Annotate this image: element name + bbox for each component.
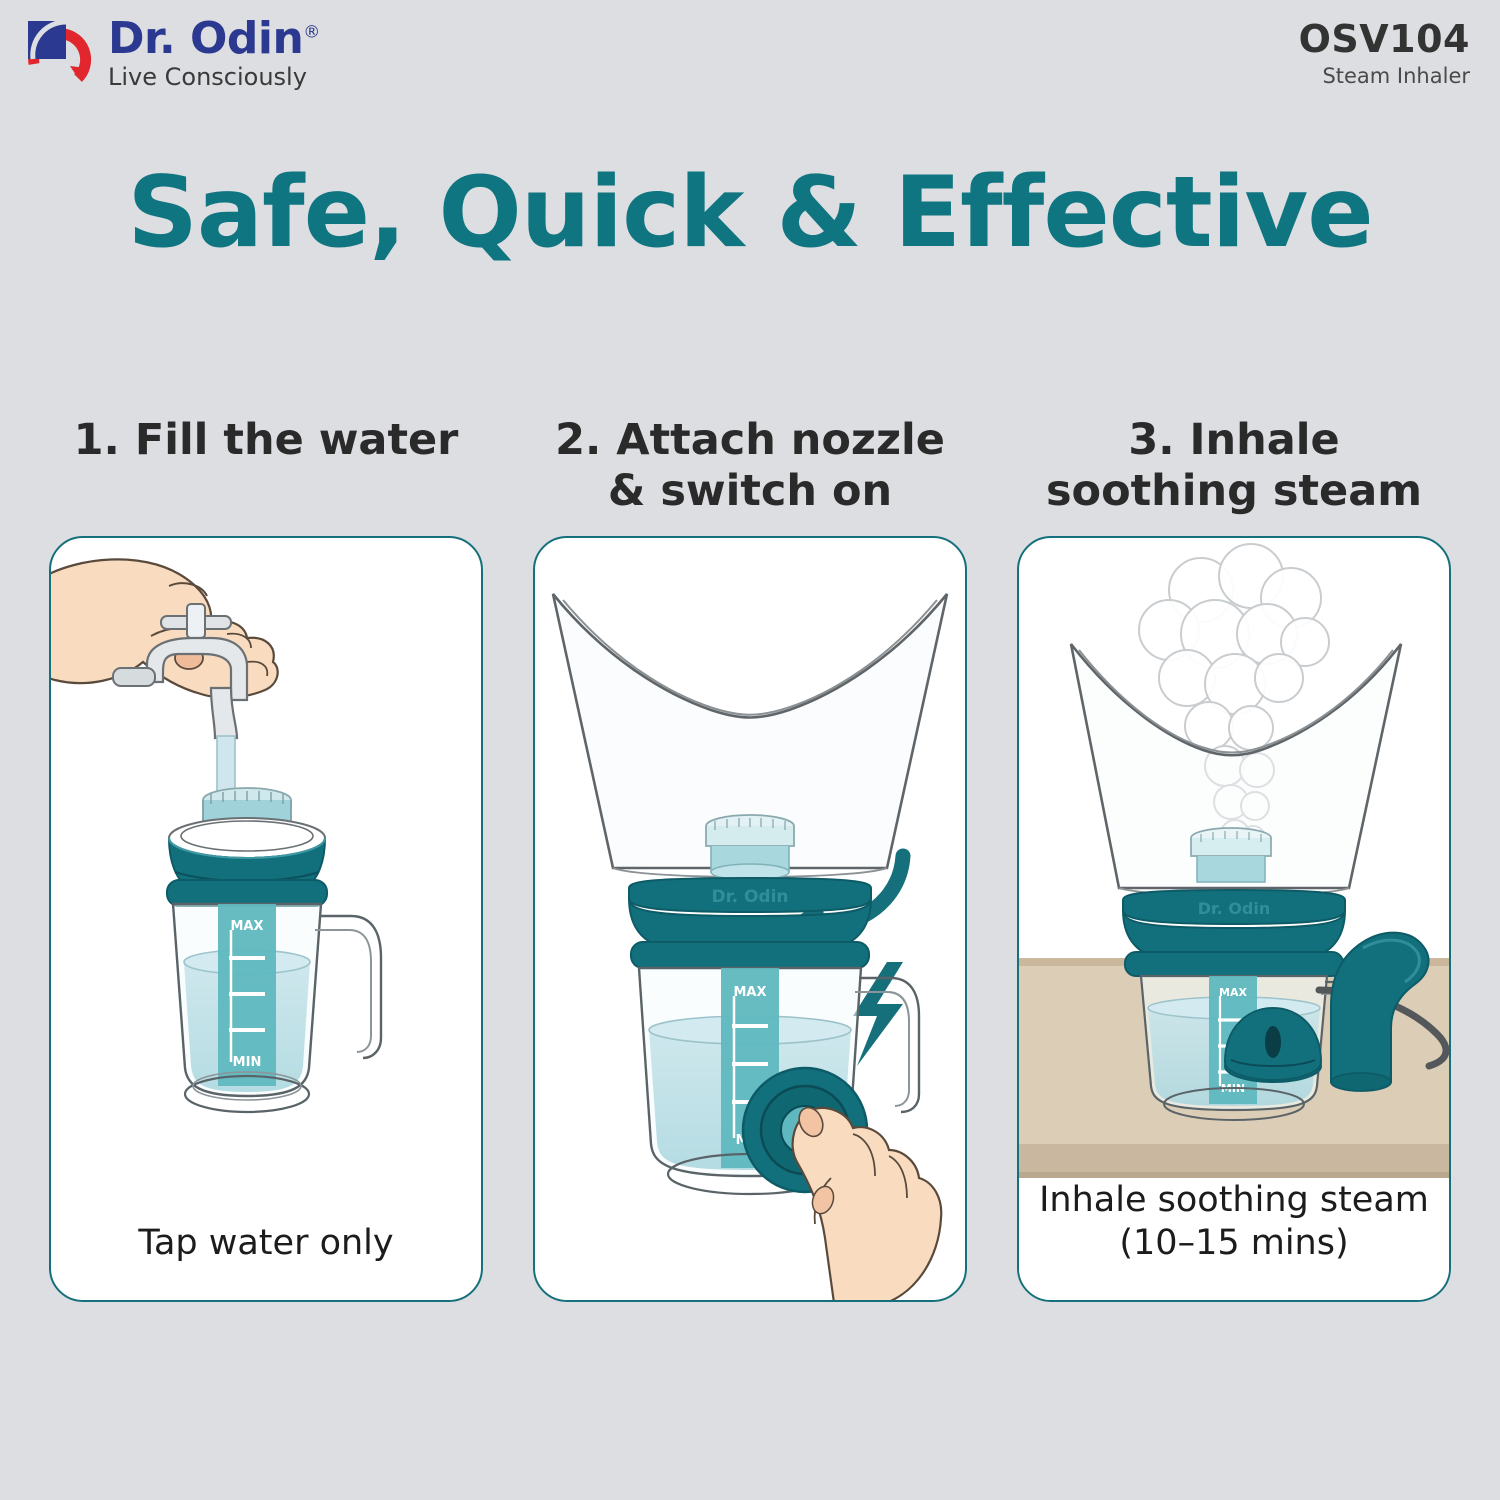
- page-header: Dr. Odin® Live Consciously OSV104 Steam …: [0, 0, 1500, 130]
- step-2-illustration: Dr. Odin MAX M: [535, 538, 965, 1300]
- step-3-caption: Inhale soothing steam (10–15 mins): [1019, 1179, 1449, 1267]
- product-model: OSV104: [1299, 20, 1470, 58]
- registered-mark: ®: [303, 23, 320, 43]
- scale-max-label: MAX: [733, 985, 766, 1000]
- step-1-card: MAX MIN Tap water only: [49, 536, 483, 1302]
- device-lid: Dr. Odin: [1123, 890, 1345, 976]
- water-jug: MAX MIN: [173, 904, 381, 1112]
- brand-name-text: Dr. Odin: [108, 13, 303, 64]
- hand-pressing-button: [793, 1104, 942, 1300]
- step-2-heading: 2. Attach nozzle & switch on: [534, 415, 966, 530]
- device-lid: [167, 818, 327, 906]
- steam-nozzle: [706, 815, 794, 880]
- steps-container: 1. Fill the water: [0, 415, 1500, 1365]
- scale-max-label: MAX: [230, 919, 263, 934]
- step-3-card: Dr. Odin MAX M: [1017, 536, 1451, 1302]
- device-brand-label: Dr. Odin: [1198, 899, 1270, 918]
- step-3-caption-line-2: (10–15 mins): [1019, 1222, 1449, 1266]
- brand-logo: Dr. Odin® Live Consciously: [22, 16, 320, 92]
- step-3: 3. Inhale soothing steam: [1018, 415, 1450, 1365]
- product-identifier: OSV104 Steam Inhaler: [1299, 20, 1470, 87]
- step-1: 1. Fill the water: [50, 415, 482, 1365]
- step-2: 2. Attach nozzle & switch on: [534, 415, 966, 1365]
- brand-name: Dr. Odin®: [108, 17, 320, 61]
- page-title: Safe, Quick & Effective: [0, 160, 1500, 268]
- device-brand-label: Dr. Odin: [712, 887, 789, 907]
- step-1-illustration: MAX MIN: [51, 538, 481, 1300]
- steam-nozzle: [1191, 828, 1271, 882]
- step-1-caption: Tap water only: [51, 1222, 481, 1266]
- dr-odin-logo-icon: [22, 16, 94, 92]
- brand-tagline: Live Consciously: [108, 64, 320, 90]
- scale-min-label: MIN: [233, 1055, 262, 1070]
- step-3-caption-line-1: Inhale soothing steam: [1019, 1179, 1449, 1223]
- step-3-heading: 3. Inhale soothing steam: [1018, 415, 1450, 530]
- step-1-heading: 1. Fill the water: [74, 415, 459, 530]
- step-2-card: Dr. Odin MAX M: [533, 536, 967, 1302]
- product-type: Steam Inhaler: [1299, 66, 1470, 87]
- device-lid: Dr. Odin: [629, 878, 871, 968]
- scale-max-label: MAX: [1219, 986, 1247, 999]
